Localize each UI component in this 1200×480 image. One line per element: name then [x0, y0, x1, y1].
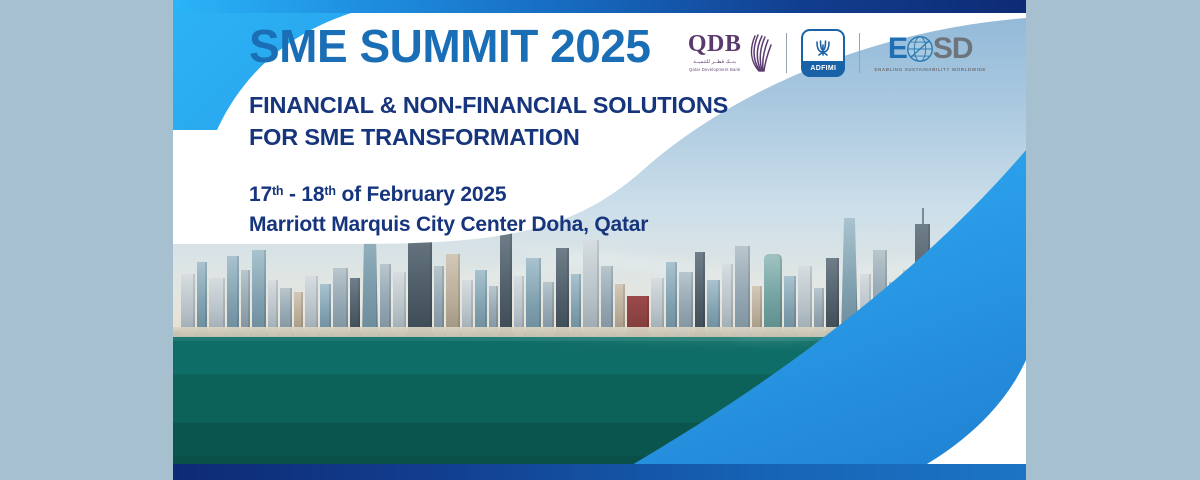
- event-subtitle: FINANCIAL & NON-FINANCIAL SOLUTIONS FOR …: [249, 90, 728, 153]
- date-ordinal-first: th: [272, 184, 283, 198]
- bottom-gradient-rule: [173, 464, 1026, 480]
- logo-qdb[interactable]: QDB بنــك قطــر للتنميــة Qatar Developm…: [688, 32, 773, 73]
- logo-divider: [786, 33, 787, 73]
- subtitle-line-1: FINANCIAL & NON-FINANCIAL SOLUTIONS: [249, 90, 728, 121]
- top-gradient-rule: [173, 0, 1026, 13]
- sponsor-logos: QDB بنــك قطــر للتنميــة Qatar Developm…: [688, 22, 986, 84]
- qdb-wordmark: QDB: [688, 32, 742, 56]
- event-meta: 17th - 18th of February 2025 Marriott Ma…: [249, 180, 728, 240]
- qdb-flame-icon: [746, 34, 772, 72]
- qdb-text-lockup: QDB بنــك قطــر للتنميــة Qatar Developm…: [688, 32, 742, 73]
- headline-block: SME SUMMIT 2025 FINANCIAL & NON-FINANCIA…: [249, 22, 728, 239]
- event-banner: SME SUMMIT 2025 FINANCIAL & NON-FINANCIA…: [173, 0, 1026, 480]
- globe-icon: [906, 35, 934, 63]
- eosd-wordmark: E S D: [874, 34, 986, 64]
- date-separator: - 18: [283, 183, 324, 206]
- event-dates: 17th - 18th of February 2025: [249, 180, 728, 210]
- qdb-english-name: Qatar Development Bank: [688, 67, 742, 73]
- eosd-letter-d: D: [952, 34, 973, 64]
- logo-divider: [859, 33, 860, 73]
- date-day-first: 17: [249, 183, 272, 206]
- eosd-letter-e: E: [888, 34, 907, 64]
- date-ordinal-second: th: [324, 184, 335, 198]
- page-background: SME SUMMIT 2025 FINANCIAL & NON-FINANCIA…: [0, 0, 1200, 480]
- adfimi-tulip-icon: [811, 34, 835, 58]
- eosd-letter-s: S: [933, 34, 952, 64]
- logo-eosd[interactable]: E S D ENABLING SUSTAINABILITY WORLDWIDE: [874, 34, 986, 72]
- event-title: SME SUMMIT 2025: [249, 22, 728, 70]
- adfimi-emblem: [803, 31, 843, 61]
- subtitle-line-2: FOR SME TRANSFORMATION: [249, 122, 728, 153]
- date-month-year: of February 2025: [336, 183, 507, 206]
- eosd-tagline: ENABLING SUSTAINABILITY WORLDWIDE: [874, 67, 986, 72]
- qdb-arabic-name: بنــك قطــر للتنميــة: [688, 59, 742, 67]
- event-venue: Marriott Marquis City Center Doha, Qatar: [249, 210, 728, 240]
- adfimi-wordmark: ADFIMI: [803, 61, 843, 75]
- logo-adfimi[interactable]: ADFIMI: [801, 29, 845, 77]
